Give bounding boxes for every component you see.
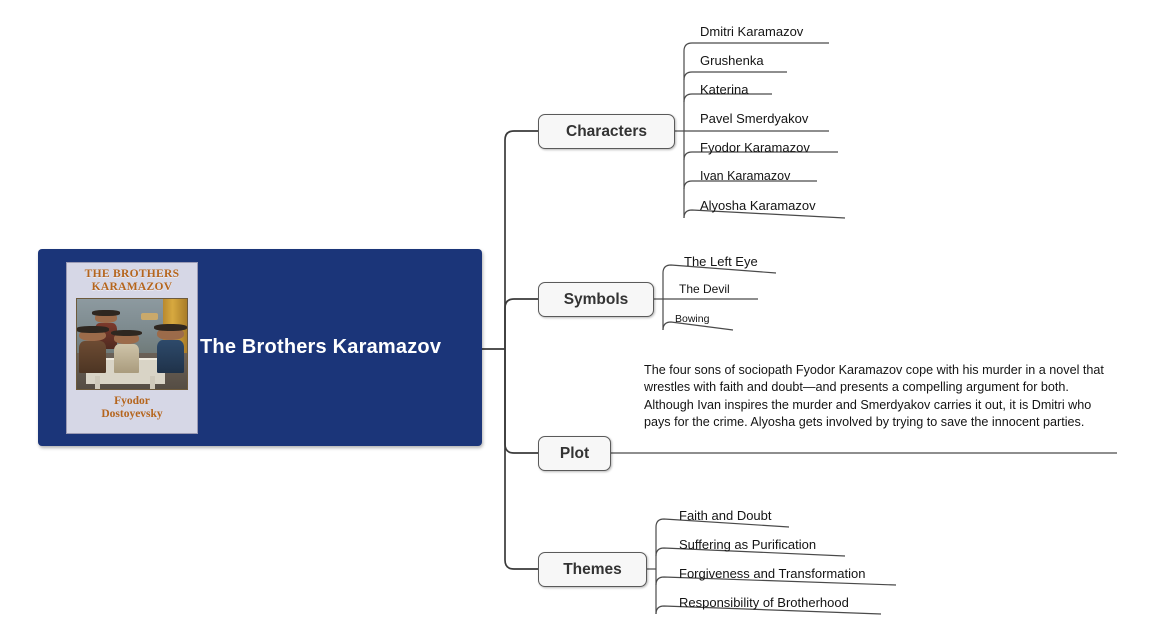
branch-node-plot[interactable]: Plot [538, 436, 611, 471]
leaf-characters-4[interactable]: Fyodor Karamazov [700, 140, 810, 155]
spine-to-characters [505, 131, 538, 349]
leaf-symbols-0[interactable]: The Left Eye [684, 254, 758, 269]
leaf-characters-6[interactable]: Alyosha Karamazov [700, 198, 816, 213]
book-cover-image: THE BROTHERS KARAMAZOV Fyodor Dostoyevsk… [66, 262, 198, 434]
card-players-painting [76, 298, 188, 390]
leaf-themes-2[interactable]: Forgiveness and Transformation [679, 566, 865, 581]
characters-leaf-rule-0 [684, 43, 829, 51]
book-cover-title: THE BROTHERS KARAMAZOV [67, 268, 197, 294]
book-cover-title-line1: THE BROTHERS [67, 268, 197, 281]
leaf-symbols-1[interactable]: The Devil [679, 282, 730, 296]
leaf-characters-1[interactable]: Grushenka [700, 53, 764, 68]
spine-to-themes [505, 349, 538, 569]
leaf-characters-3[interactable]: Pavel Smerdyakov [700, 111, 808, 126]
leaf-characters-2[interactable]: Katerina [700, 82, 748, 97]
leaf-symbols-2[interactable]: Bowing [675, 313, 709, 325]
leaf-themes-1[interactable]: Suffering as Purification [679, 537, 816, 552]
leaf-themes-0[interactable]: Faith and Doubt [679, 508, 772, 523]
branch-node-symbols[interactable]: Symbols [538, 282, 654, 317]
plot-description-text: The four sons of sociopath Fyodor Karama… [644, 362, 1110, 432]
characters-leaf-rule-1 [684, 72, 787, 80]
spine-to-symbols [505, 299, 538, 349]
mindmap-canvas: THE BROTHERS KARAMAZOV Fyodor Dostoyevsk… [0, 0, 1154, 633]
central-node[interactable]: THE BROTHERS KARAMAZOV Fyodor Dostoyevsk… [38, 249, 482, 446]
central-node-title: The Brothers Karamazov [200, 249, 441, 446]
leaf-characters-0[interactable]: Dmitri Karamazov [700, 24, 803, 39]
leaf-characters-5[interactable]: Ivan Karamazov [700, 169, 790, 183]
book-cover-author: Fyodor Dostoyevsky [67, 395, 197, 421]
leaf-themes-3[interactable]: Responsibility of Brotherhood [679, 595, 849, 610]
branch-node-themes[interactable]: Themes [538, 552, 647, 587]
book-cover-author-line1: Fyodor [67, 395, 197, 408]
branch-node-characters[interactable]: Characters [538, 114, 675, 149]
spine-to-plot [505, 349, 538, 453]
book-cover-author-line2: Dostoyevsky [67, 408, 197, 421]
book-cover-title-line2: KARAMAZOV [67, 281, 197, 294]
